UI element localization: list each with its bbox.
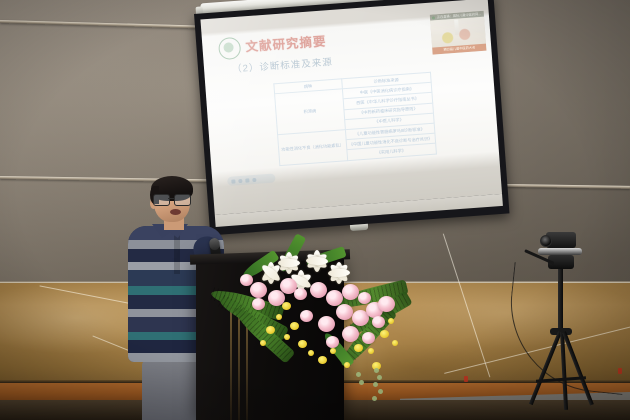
pink-rose xyxy=(336,304,353,320)
yellow-orchid xyxy=(330,348,336,354)
yellow-orchid xyxy=(392,340,398,346)
camera-lens-icon xyxy=(540,235,552,247)
slide-content: 文献研究摘要 （2）诊断标准及来源 病种 诊断标准来源 积滞病 中医《中医消化病… xyxy=(201,5,501,204)
yellow-orchid xyxy=(282,302,291,310)
yellow-orchid xyxy=(308,350,314,356)
pink-rose xyxy=(300,310,313,322)
table-cell-category: 功能性消化不良（消化功能紊乱） xyxy=(278,130,348,165)
speaker-mouth xyxy=(170,209,181,215)
slide-table: 病种 诊断标准来源 积滞病 中医《中医消化病诊疗指南》 西医《中华儿科学诊疗指南… xyxy=(273,72,436,166)
slide-title: 文献研究摘要 xyxy=(245,30,327,55)
pink-rose xyxy=(342,326,359,342)
table-cell-category: 积滞病 xyxy=(275,89,346,135)
pink-rose xyxy=(372,316,385,328)
green-laurel-emblem-icon xyxy=(218,37,242,61)
eyeglasses-icon xyxy=(153,194,191,204)
menu-icon[interactable] xyxy=(245,178,249,182)
white-lily xyxy=(326,262,352,286)
slide-subtitle: （2）诊断标准及来源 xyxy=(232,54,334,75)
pink-rose xyxy=(252,298,265,310)
pink-rose xyxy=(240,274,253,286)
live-video-overlay: 正在直播：国际儿童中医药网... 第四届儿童中医药大会 xyxy=(430,11,487,55)
yellow-orchid xyxy=(368,348,374,354)
yellow-orchid xyxy=(354,344,363,352)
pink-rose xyxy=(326,336,339,348)
floor-marker-red xyxy=(464,376,468,382)
video-overlay-frame xyxy=(430,17,486,48)
pink-rose xyxy=(342,284,359,300)
floral-arrangement xyxy=(222,244,418,396)
projection-screen: 文献研究摘要 （2）诊断标准及来源 病种 诊断标准来源 积滞病 中医《中医消化病… xyxy=(193,0,511,249)
yellow-orchid xyxy=(284,334,290,340)
yellow-orchid xyxy=(388,318,394,324)
screen-black-frame: 文献研究摘要 （2）诊断标准及来源 病种 诊断标准来源 积滞病 中医《中医消化病… xyxy=(194,0,509,235)
tripod-quick-release-plate xyxy=(538,248,582,255)
yellow-orchid xyxy=(276,314,282,320)
pink-rose xyxy=(318,316,335,332)
yellow-orchid xyxy=(344,362,350,368)
pink-rose xyxy=(250,282,267,298)
video-camera-on-tripod xyxy=(524,232,616,408)
yellow-orchid xyxy=(260,340,266,346)
yellow-orchid xyxy=(318,356,327,364)
yellow-orchid xyxy=(266,326,275,334)
pink-rose xyxy=(310,282,327,298)
yellow-orchid xyxy=(290,322,299,330)
pink-rose xyxy=(362,332,375,344)
pink-rose xyxy=(294,288,307,300)
screen-bottom-weight xyxy=(350,224,368,231)
conference-room-photo: 文献研究摘要 （2）诊断标准及来源 病种 诊断标准来源 积滞病 中医《中医消化病… xyxy=(0,0,630,420)
yellow-orchid xyxy=(298,340,307,348)
pink-rose xyxy=(378,296,395,312)
next-icon[interactable] xyxy=(252,177,256,181)
screen-canvas: 文献研究摘要 （2）诊断标准及来源 病种 诊断标准来源 积滞病 中医《中医消化病… xyxy=(200,0,502,215)
yellow-orchid xyxy=(380,330,389,338)
tripod-center-column xyxy=(558,269,563,331)
speaker-trousers xyxy=(142,360,200,420)
